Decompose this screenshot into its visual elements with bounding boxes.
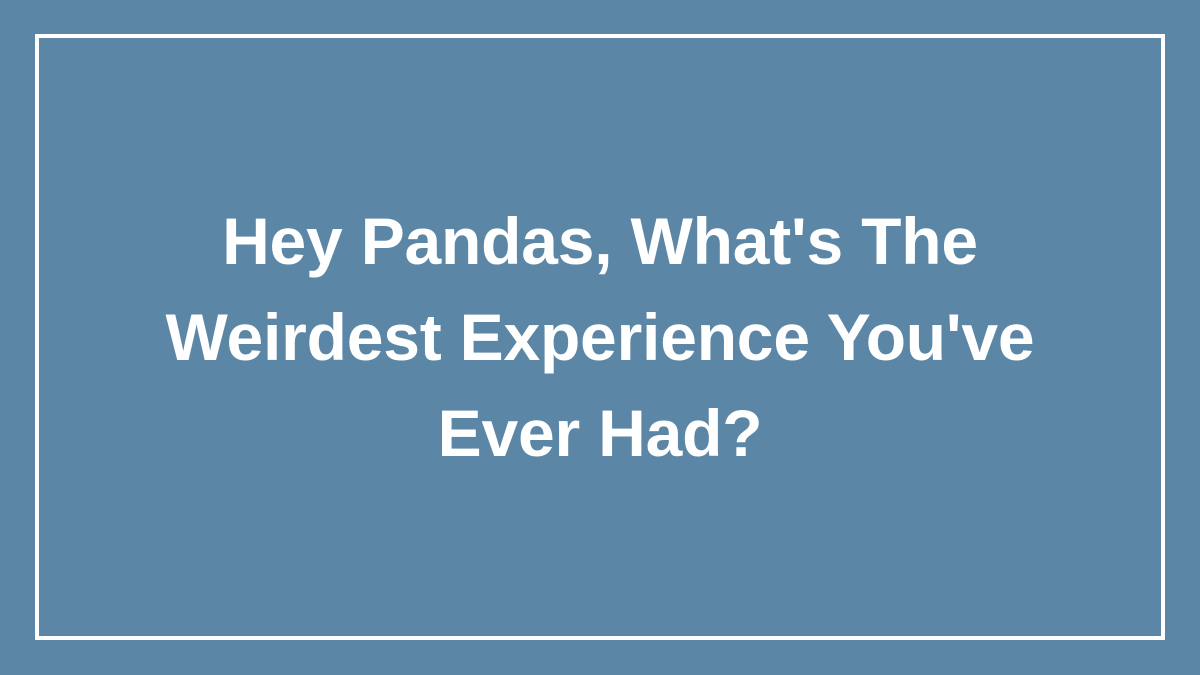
page-title: Hey Pandas, What's The Weirdest Experien… <box>75 193 1125 481</box>
headline-container: Hey Pandas, What's The Weirdest Experien… <box>35 34 1165 640</box>
title-card: Hey Pandas, What's The Weirdest Experien… <box>0 0 1200 675</box>
